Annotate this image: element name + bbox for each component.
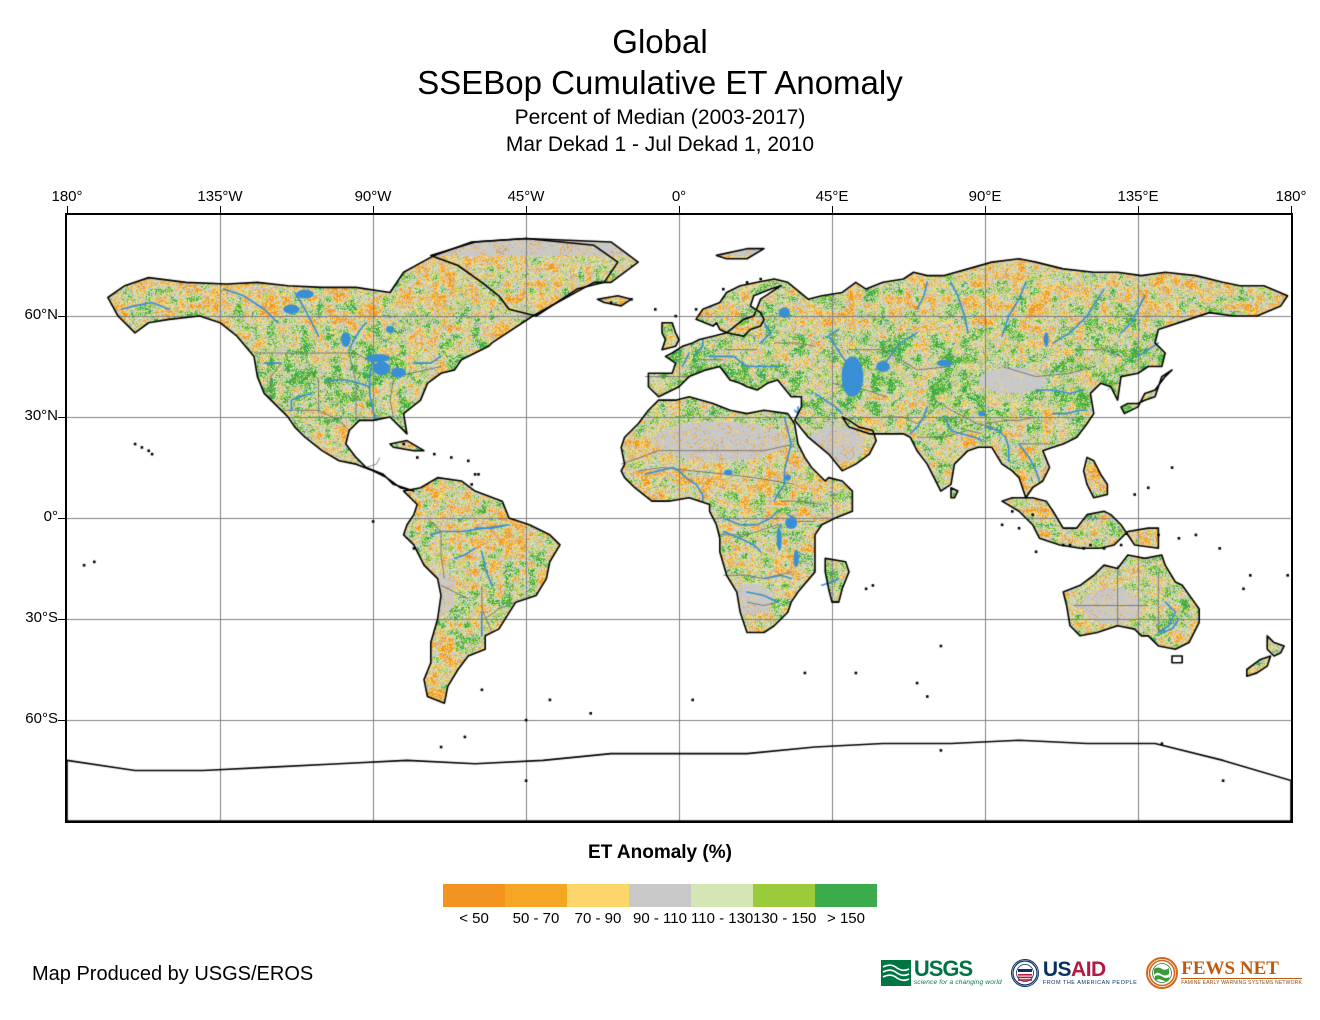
lat-tick-mark-3 — [58, 619, 65, 620]
usgs-tagline: science for a changing world — [914, 979, 1002, 987]
fews-wordmark: FEWS NET — [1181, 959, 1302, 978]
legend-label-1: 50 - 70 — [505, 910, 567, 927]
lon-tick-mark-6 — [985, 206, 986, 213]
legend-swatch-3 — [629, 884, 691, 907]
legend: ET Anomaly (%) < 5050 - 7070 - 9090 - 11… — [0, 842, 1320, 928]
page-subtitle-1: Percent of Median (2003-2017) — [0, 104, 1320, 131]
legend-label-2: 70 - 90 — [567, 910, 629, 927]
legend-swatch-6 — [815, 884, 877, 907]
legend-swatch-1 — [505, 884, 567, 907]
legend-bar: < 5050 - 7070 - 9090 - 110110 - 130130 -… — [443, 884, 877, 927]
usaid-wordmark: USAID — [1043, 960, 1137, 980]
lon-tick-label-1: 135°W — [180, 188, 260, 205]
usaid-seal-icon — [1011, 959, 1039, 987]
lat-tick-label-1: 30°N — [2, 407, 58, 424]
lon-tick-mark-1 — [220, 206, 221, 213]
lon-tick-label-2: 90°W — [333, 188, 413, 205]
footer-credit: Map Produced by USGS/EROS — [32, 963, 313, 986]
usaid-logo: USAID FROM THE AMERICAN PEOPLE — [1011, 959, 1137, 987]
lat-tick-mark-1 — [58, 417, 65, 418]
lon-tick-label-5: 45°E — [792, 188, 872, 205]
legend-swatch-4 — [691, 884, 753, 907]
lon-tick-label-6: 90°E — [945, 188, 1025, 205]
legend-label-5: 130 - 150 — [753, 910, 815, 927]
title-block: Global SSEBop Cumulative ET Anomaly Perc… — [0, 22, 1320, 158]
fews-net-logo: FEWS NET FAMINE EARLY WARNING SYSTEMS NE… — [1146, 957, 1302, 989]
legend-swatch-row — [443, 884, 877, 907]
lon-tick-label-8: 180° — [1251, 188, 1320, 205]
lon-tick-mark-8 — [1291, 206, 1292, 213]
lat-tick-label-4: 60°S — [2, 710, 58, 727]
lon-tick-mark-3 — [526, 206, 527, 213]
lat-tick-label-3: 30°S — [2, 609, 58, 626]
legend-swatch-0 — [443, 884, 505, 907]
legend-swatch-2 — [567, 884, 629, 907]
legend-title: ET Anomaly (%) — [0, 842, 1320, 864]
page-title-line-1: Global — [0, 22, 1320, 62]
legend-label-3: 90 - 110 — [629, 910, 691, 927]
legend-label-4: 110 - 130 — [691, 910, 753, 927]
lon-tick-mark-7 — [1138, 206, 1139, 213]
lat-tick-mark-0 — [58, 316, 65, 317]
lon-tick-label-3: 45°W — [486, 188, 566, 205]
legend-label-0: < 50 — [443, 910, 505, 927]
lon-tick-label-7: 135°E — [1098, 188, 1178, 205]
world-map-panel[interactable] — [65, 213, 1293, 823]
legend-label-row: < 5050 - 7070 - 9090 - 110110 - 130130 -… — [443, 910, 877, 927]
lon-tick-label-4: 0° — [639, 188, 719, 205]
page-title-line-2: SSEBop Cumulative ET Anomaly — [0, 62, 1320, 104]
page-subtitle-2: Mar Dekad 1 - Jul Dekad 1, 2010 — [0, 131, 1320, 158]
lon-tick-label-0: 180° — [27, 188, 107, 205]
usaid-tagline: FROM THE AMERICAN PEOPLE — [1043, 980, 1137, 987]
lat-tick-label-2: 0° — [2, 508, 58, 525]
legend-label-6: > 150 — [815, 910, 877, 927]
lon-tick-mark-4 — [679, 206, 680, 213]
fews-tagline: FAMINE EARLY WARNING SYSTEMS NETWORK — [1181, 978, 1302, 987]
lon-tick-mark-5 — [832, 206, 833, 213]
usgs-wave-icon — [881, 960, 911, 986]
fews-globe-icon — [1146, 957, 1178, 989]
agency-logo-row: USGS science for a changing world USAID … — [881, 957, 1302, 989]
usaid-seal-svg — [1012, 960, 1038, 986]
usaid-word-us: US — [1043, 958, 1071, 981]
usgs-logo: USGS science for a changing world — [881, 959, 1002, 987]
legend-swatch-5 — [753, 884, 815, 907]
lat-tick-mark-2 — [58, 518, 65, 519]
lon-tick-mark-0 — [67, 206, 68, 213]
usgs-wordmark: USGS — [914, 959, 1002, 979]
usaid-word-aid: AID — [1071, 958, 1106, 981]
map-raster-canvas[interactable] — [67, 215, 1291, 821]
lon-tick-mark-2 — [373, 206, 374, 213]
fews-globe-svg — [1148, 959, 1176, 987]
usgs-wave-svg — [881, 960, 911, 986]
lat-tick-mark-4 — [58, 720, 65, 721]
lat-tick-label-0: 60°N — [2, 306, 58, 323]
